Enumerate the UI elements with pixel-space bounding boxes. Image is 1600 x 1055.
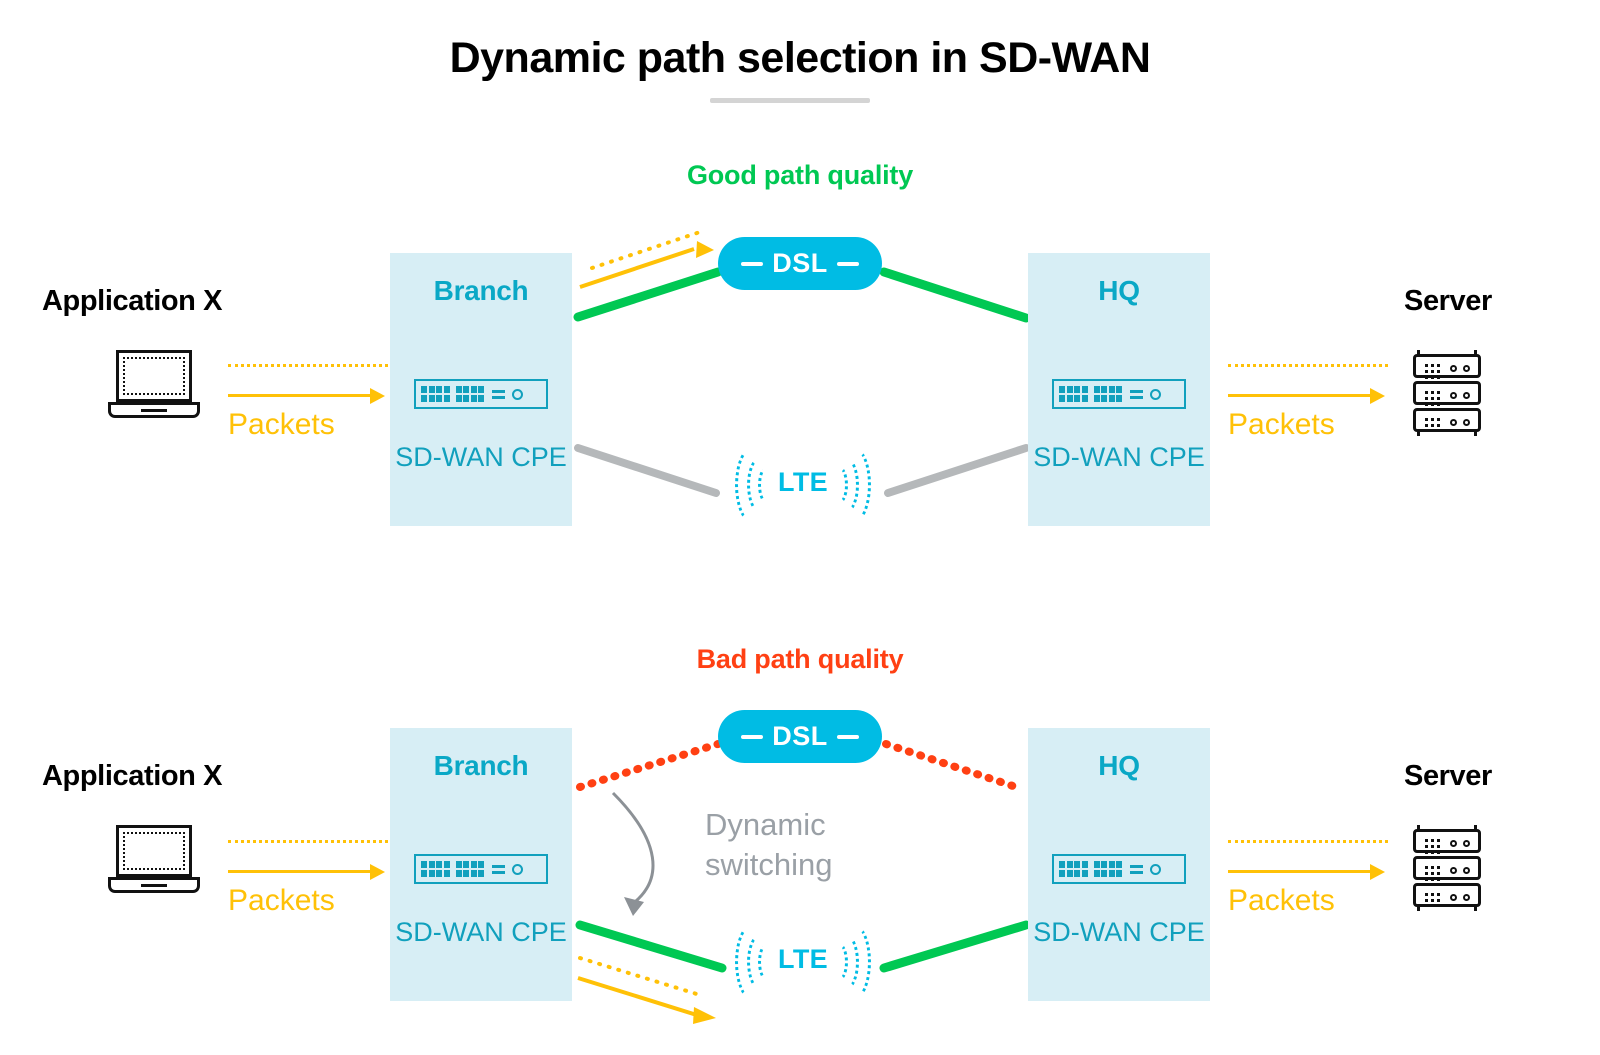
cpe-port-group-1 [421, 386, 450, 402]
dynamic-switching-label: Dynamic switching [705, 805, 833, 885]
packets-arrowhead [1370, 388, 1385, 404]
server-leds [1450, 840, 1470, 847]
server-label-bottom: Server [1404, 760, 1492, 793]
diagram-canvas: Dynamic path selection in SD-WAN Good [0, 0, 1600, 1055]
dsl-label-top: DSL [772, 248, 828, 279]
server-dots [1425, 391, 1440, 406]
grey-link-branch-lte-good [578, 448, 716, 493]
packets-group-right-top: Packets [1228, 360, 1388, 456]
application-label-bottom: Application X [42, 760, 222, 793]
cpe-port-group-2 [456, 861, 485, 877]
cpe-router-icon-branch-bottom [414, 854, 548, 884]
bad-path-quality-label: Bad path quality [0, 644, 1600, 675]
server-dots [1425, 839, 1440, 854]
server-leds [1450, 419, 1470, 426]
laptop-base-bottom [108, 877, 200, 893]
server-dots [1425, 893, 1440, 908]
lte-label-bottom: LTE [718, 944, 888, 975]
cpe-uplink-dashes [492, 390, 505, 399]
laptop-base-top [108, 402, 200, 418]
cpe-router-icon-branch-top [414, 379, 548, 409]
dsl-dash-left [741, 262, 763, 266]
laptop-screen-top [116, 350, 192, 402]
cpe-uplink-dashes [492, 865, 505, 874]
cpe-port-group-1 [1059, 386, 1088, 402]
branch-site-box-top: Branch SD-WAN CPE [390, 253, 572, 526]
hq-site-box-bottom: HQ SD-WAN CPE [1028, 728, 1210, 1001]
packets-solid-line [228, 870, 374, 873]
packets-label-left-bottom: Packets [228, 884, 388, 918]
packets-dotted-branch-to-lte-bad [580, 958, 700, 995]
cpe-ports [421, 861, 484, 877]
green-link-lte-hq-bad [884, 925, 1026, 968]
green-link-branch-dsl-good [578, 272, 718, 317]
packets-dotted-branch-to-dsl-good [592, 232, 700, 268]
server-dots [1425, 866, 1440, 881]
cpe-status-led [512, 389, 523, 400]
branch-sub-top: SD-WAN CPE [390, 439, 572, 475]
packets-solid-line [1228, 394, 1374, 397]
server-unit-2 [1413, 856, 1481, 880]
server-leds [1450, 867, 1470, 874]
application-label-top: Application X [42, 285, 222, 318]
good-path-quality-label: Good path quality [0, 160, 1600, 191]
hq-sub-bottom: SD-WAN CPE [1028, 914, 1210, 950]
hq-name-top: HQ [1028, 275, 1210, 307]
cpe-ports [1059, 861, 1122, 877]
packets-label-right-top: Packets [1228, 408, 1388, 442]
cpe-port-group-2 [1094, 861, 1123, 877]
cpe-router-icon-hq-bottom [1052, 854, 1186, 884]
cpe-port-group-2 [456, 386, 485, 402]
packets-solid-line [1228, 870, 1374, 873]
server-unit-3 [1413, 883, 1481, 907]
hq-name-bottom: HQ [1028, 750, 1210, 782]
packets-arrowhead-branch-to-dsl-good [696, 241, 714, 258]
cpe-status-led [1150, 389, 1161, 400]
hq-sub-top: SD-WAN CPE [1028, 439, 1210, 475]
dsl-node-bottom[interactable]: DSL [718, 710, 882, 763]
cpe-status-led [1150, 864, 1161, 875]
packets-dotted-line [228, 364, 388, 367]
server-dots [1425, 364, 1440, 379]
server-unit-1 [1413, 354, 1481, 378]
server-unit-1 [1413, 829, 1481, 853]
packets-arrowhead-branch-to-lte-bad [693, 1007, 716, 1024]
red-broken-link-dsl-hq-bad [886, 744, 1022, 789]
lte-label-top: LTE [718, 467, 888, 498]
cpe-port-group-1 [421, 861, 450, 877]
cpe-ports [1059, 386, 1122, 402]
lte-node-bottom[interactable]: LTE [718, 920, 888, 1004]
dsl-dash-right [837, 262, 859, 266]
branch-sub-bottom: SD-WAN CPE [390, 914, 572, 950]
server-leds [1450, 392, 1470, 399]
packets-group-right-bottom: Packets [1228, 836, 1388, 932]
packets-arrowhead [1370, 864, 1385, 880]
packets-group-left-top: Packets [228, 360, 388, 456]
packets-dotted-line [228, 840, 388, 843]
green-link-dsl-hq-good [884, 272, 1026, 318]
packets-dotted-line [1228, 364, 1388, 367]
branch-name-bottom: Branch [390, 750, 572, 782]
packets-arrow-branch-to-lte-bad [578, 978, 700, 1016]
server-leds [1450, 894, 1470, 901]
branch-site-box-bottom: Branch SD-WAN CPE [390, 728, 572, 1001]
cpe-status-led [512, 864, 523, 875]
packets-label-left-top: Packets [228, 408, 388, 442]
title-divider [710, 98, 870, 103]
server-label-top: Server [1404, 285, 1492, 318]
packets-solid-line [228, 394, 374, 397]
dsl-node-top[interactable]: DSL [718, 237, 882, 290]
dynamic-switching-arrowhead [624, 897, 644, 916]
laptop-icon-top [108, 350, 200, 420]
server-unit-2 [1413, 381, 1481, 405]
server-icon-top [1410, 350, 1484, 436]
dsl-dash-left [741, 735, 763, 739]
page-title: Dynamic path selection in SD-WAN [0, 34, 1600, 83]
packets-arrowhead [370, 864, 385, 880]
server-cap-bottom [1417, 432, 1477, 436]
green-link-branch-lte-bad [580, 925, 722, 968]
packets-dotted-line [1228, 840, 1388, 843]
cpe-port-group-2 [1094, 386, 1123, 402]
branch-name-top: Branch [390, 275, 572, 307]
cpe-port-group-1 [1059, 861, 1088, 877]
dsl-dash-right [837, 735, 859, 739]
cpe-ports [421, 386, 484, 402]
red-broken-link-branch-dsl-bad [580, 744, 718, 787]
server-unit-3 [1413, 408, 1481, 432]
cpe-router-icon-hq-top [1052, 379, 1186, 409]
packets-arrow-branch-to-dsl-good [580, 249, 694, 287]
packets-label-right-bottom: Packets [1228, 884, 1388, 918]
server-icon-bottom [1410, 825, 1484, 911]
packets-arrowhead [370, 388, 385, 404]
dsl-label-bottom: DSL [772, 721, 828, 752]
laptop-icon-bottom [108, 825, 200, 895]
grey-link-lte-hq-good [888, 448, 1026, 493]
server-leds [1450, 365, 1470, 372]
cpe-uplink-dashes [1130, 865, 1143, 874]
packets-group-left-bottom: Packets [228, 836, 388, 932]
hq-site-box-top: HQ SD-WAN CPE [1028, 253, 1210, 526]
cpe-uplink-dashes [1130, 390, 1143, 399]
lte-node-top[interactable]: LTE [718, 443, 888, 527]
server-cap-bottom [1417, 907, 1477, 911]
server-dots [1425, 418, 1440, 433]
dynamic-switching-curve [613, 793, 653, 905]
laptop-screen-bottom [116, 825, 192, 877]
